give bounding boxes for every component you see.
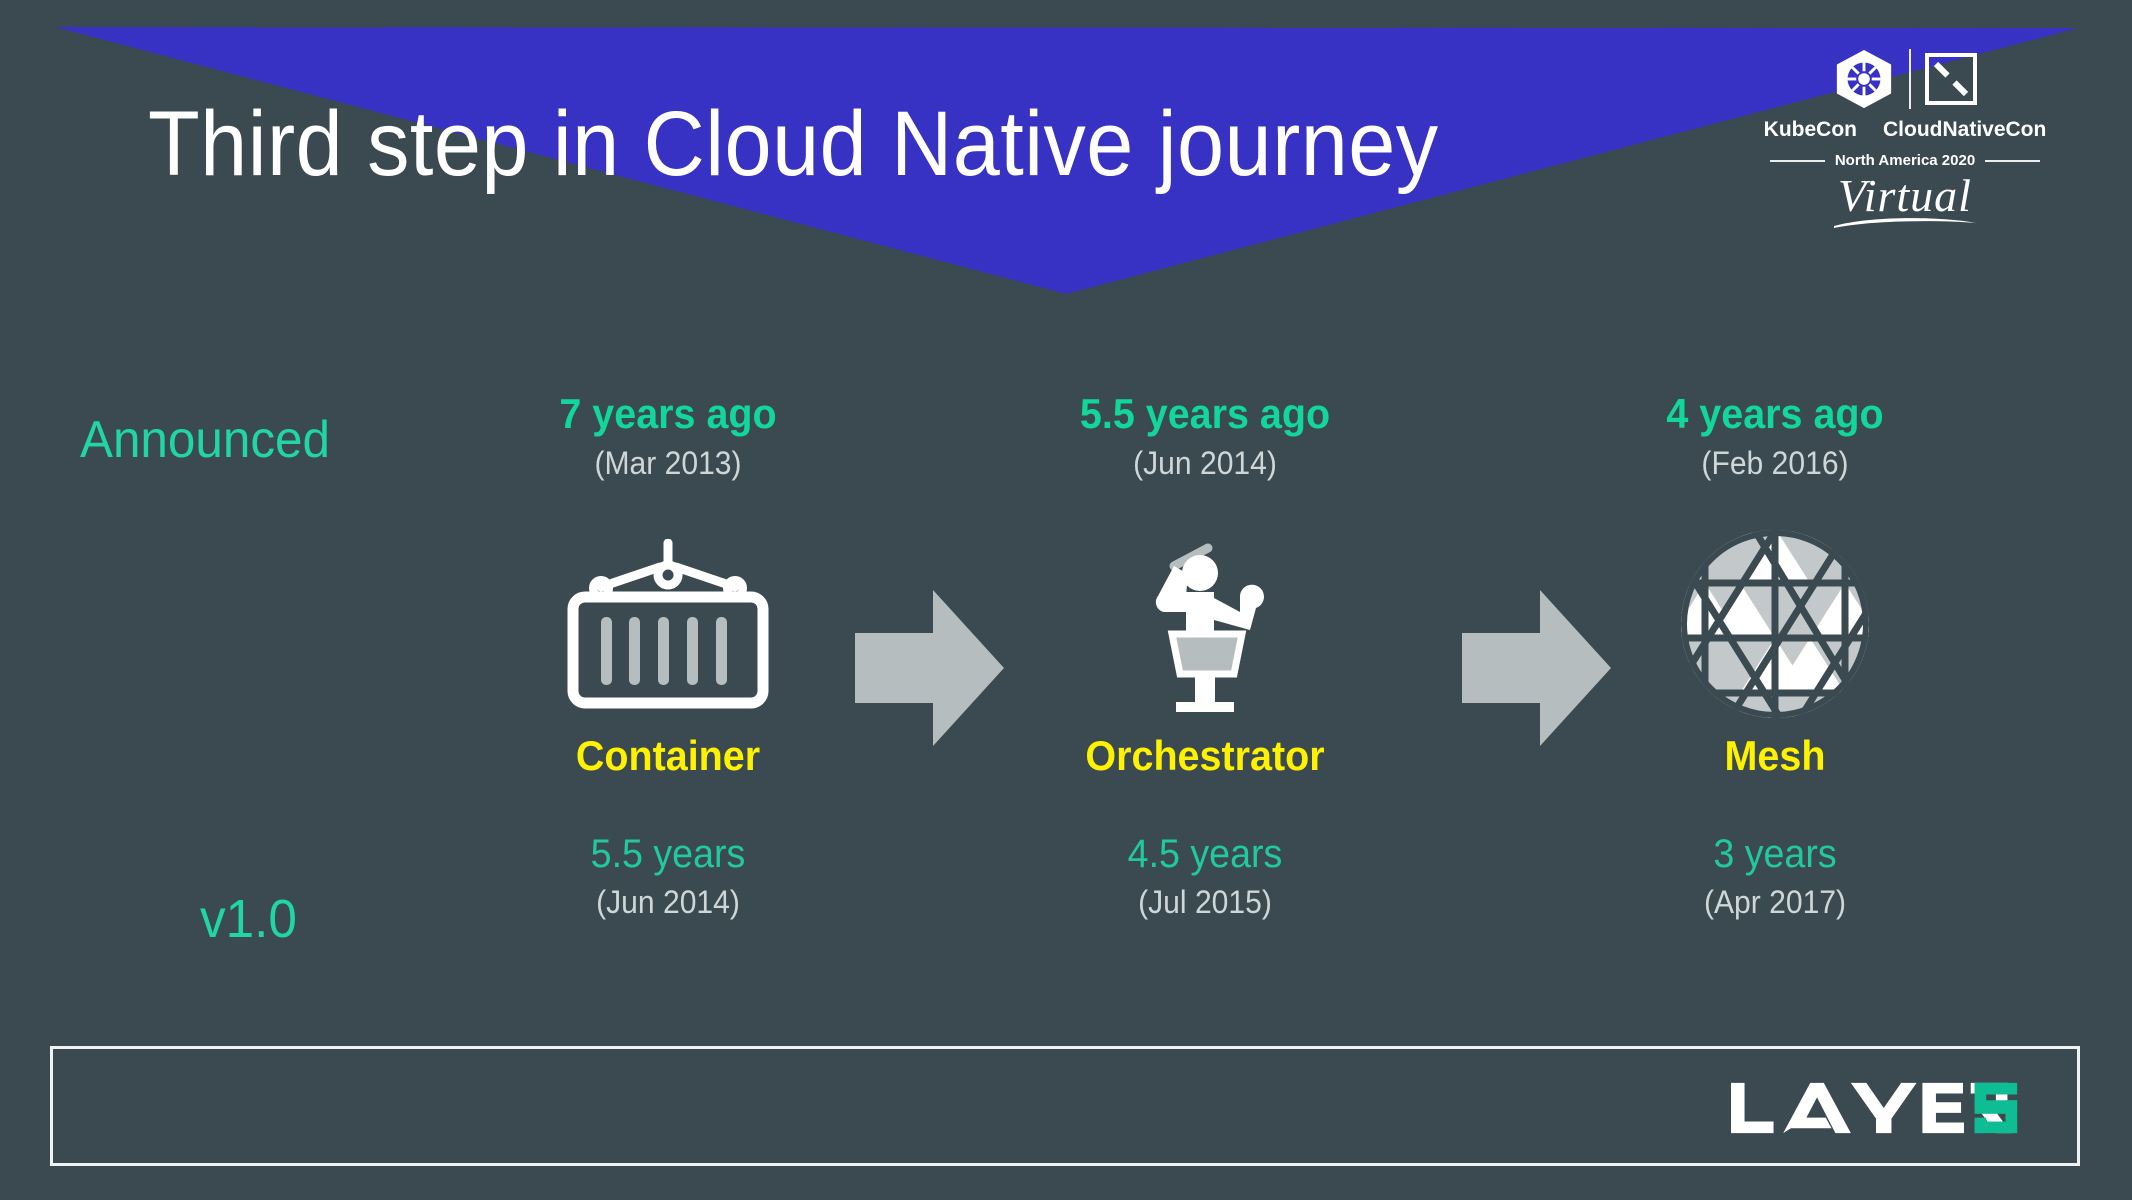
page-title: Third step in Cloud Native journey [148,96,1439,193]
v1-date-0: (Jun 2014) [452,884,884,921]
icon-slot-0 [438,524,898,724]
v1-years-2: 3 years [1559,832,1991,877]
v1-date-2: (Apr 2017) [1559,884,1991,921]
logo-divider [1909,49,1911,109]
v1-years-1: 4.5 years [989,832,1421,877]
kubernetes-helm-wheel-icon [1833,48,1895,110]
cncf-square-icon [1925,53,1977,105]
announced-ago-1: 5.5 years ago [989,390,1421,438]
stage-name-2: Mesh [1559,732,1991,780]
shipping-container-icon [559,539,777,709]
announced-date-0: (Mar 2013) [452,445,884,482]
announced-ago-0: 7 years ago [452,390,884,438]
logo-names-row: KubeCon CloudNativeCon [1770,117,2040,143]
v1-years-0: 5.5 years [452,832,884,877]
announced-ago-2: 4 years ago [1559,390,1991,438]
kubecon-cloudnativecon-logo: KubeCon CloudNativeCon North America 202… [1770,46,2040,237]
v1-date-1: (Jul 2015) [989,884,1421,921]
row-label-v1: v1.0 [200,888,297,950]
stage-name-1: Orchestrator [989,732,1421,780]
column-orchestrator: 5.5 years ago (Jun 2014) Orches [975,390,1435,921]
triangular-mesh-circle-icon [1679,528,1871,720]
logo-rule-left [1770,160,1825,162]
slide-canvas: Third step in Cloud Native journey [0,0,2132,1200]
footer-box [50,1046,2080,1166]
logo-virtual-label: Virtual [1770,173,2040,219]
column-container: 7 years ago (Mar 2013) [438,390,898,921]
logo-marks-row [1770,46,2040,112]
arrow-orchestrator-to-mesh [1462,588,1612,748]
logo-swoosh-icon [1830,214,1980,232]
icon-slot-2 [1545,524,2005,724]
logo-region-row: North America 2020 [1770,152,2040,169]
stage-name-0: Container [452,732,884,780]
logo-rule-right [1985,160,2040,162]
announced-date-2: (Feb 2016) [1559,445,1991,482]
layer5-logo [1731,1079,2021,1137]
cloudnativecon-label: CloudNativeCon [1883,118,2046,142]
layer5-accent-5 [1975,1083,2018,1133]
conductor-podium-icon [1130,534,1280,714]
arrow-container-to-orchestrator [855,588,1005,748]
announced-date-1: (Jun 2014) [989,445,1421,482]
logo-region-label: North America 2020 [1825,152,1985,169]
icon-slot-1 [975,524,1435,724]
kubecon-label: KubeCon [1764,118,1857,142]
column-mesh: 4 years ago (Feb 2016) [1545,390,2005,921]
row-label-announced: Announced [80,410,330,470]
